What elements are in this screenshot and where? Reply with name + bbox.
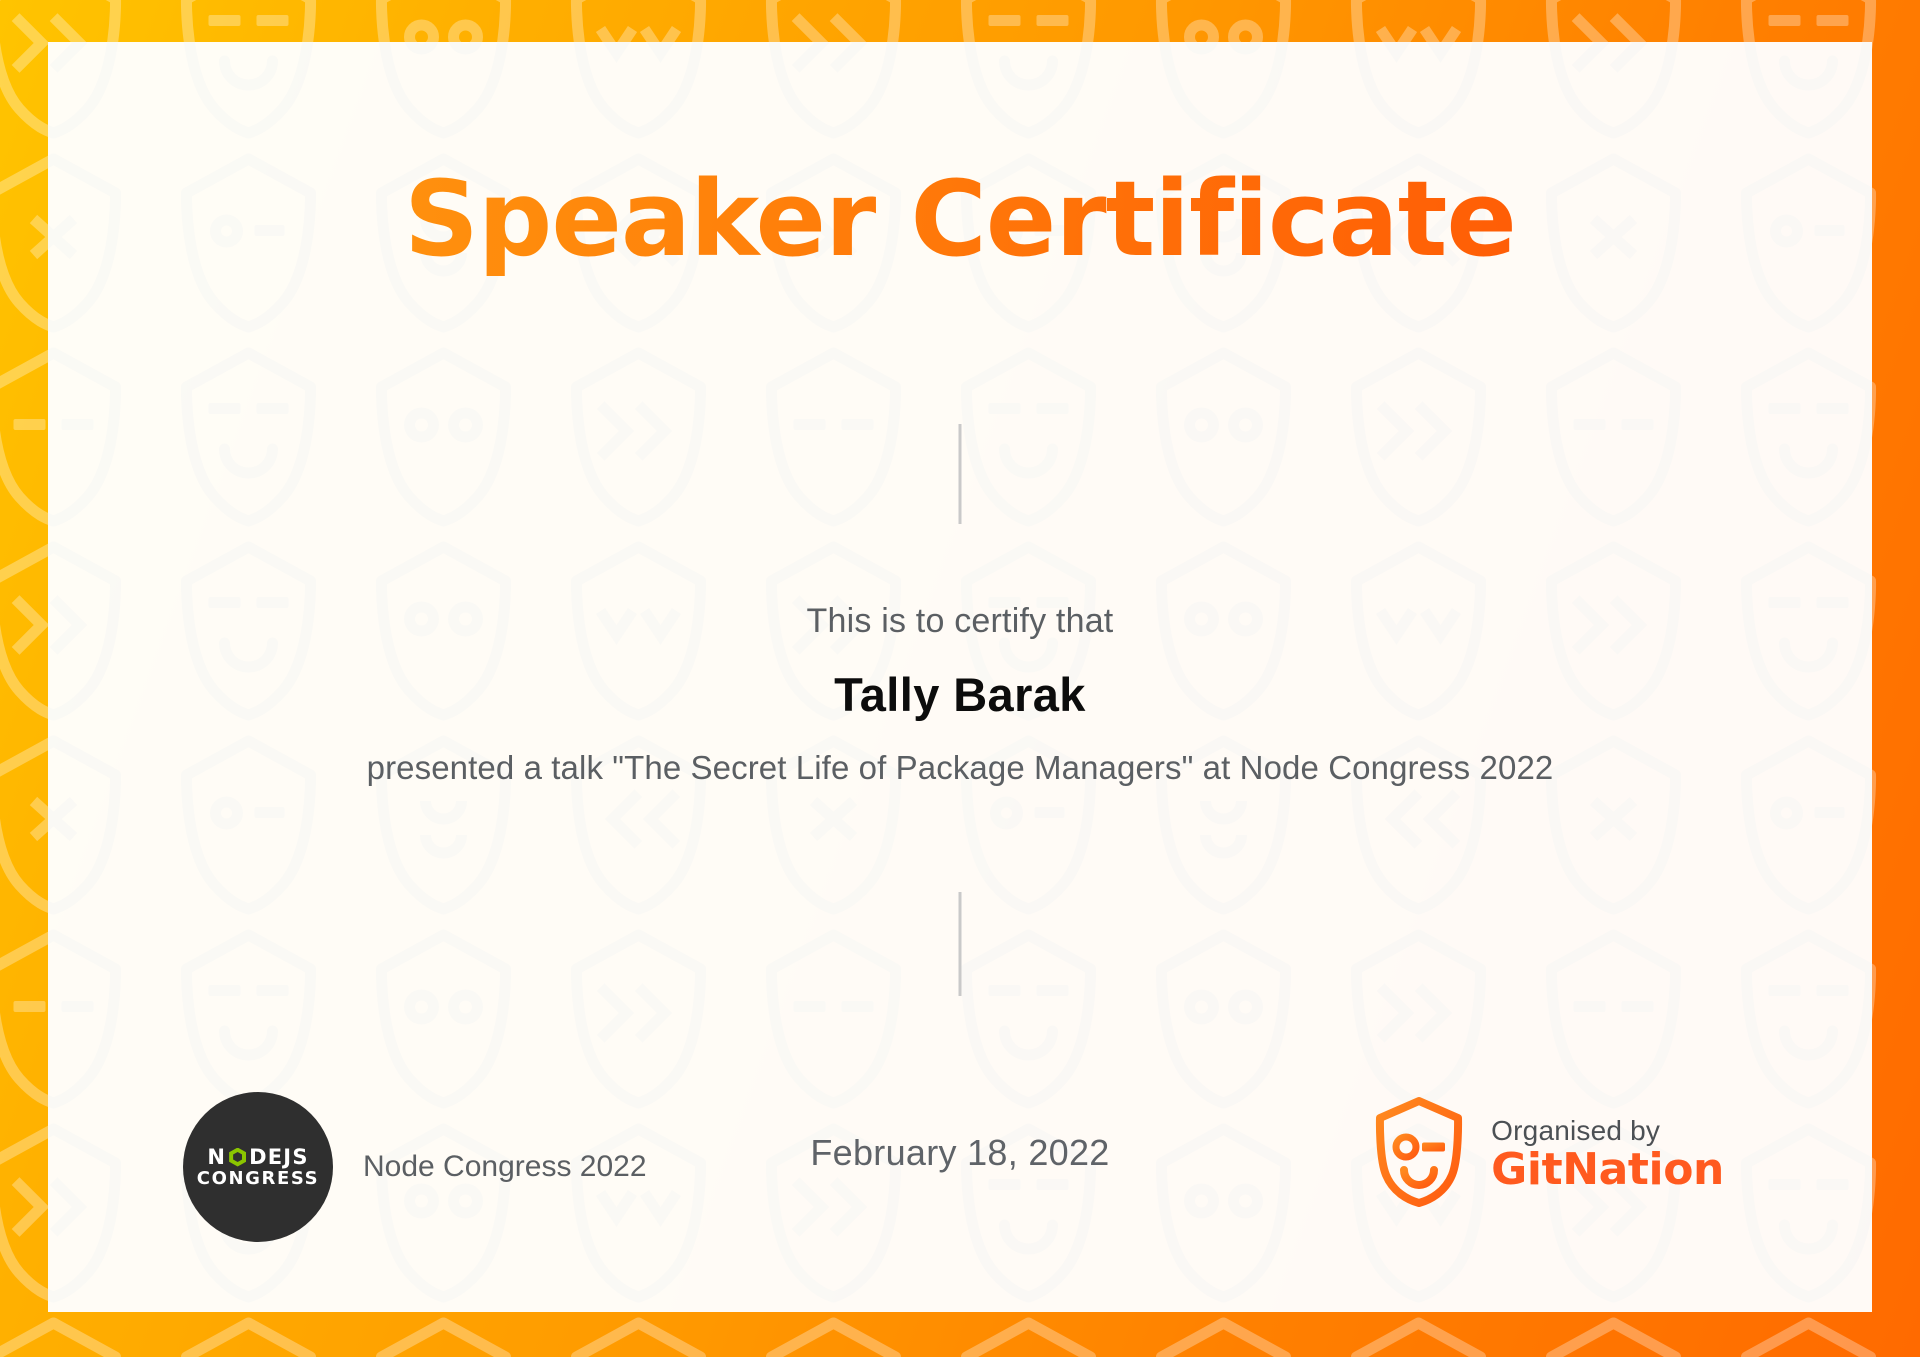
divider-bottom — [959, 892, 962, 996]
gitnation-shield-face-icon — [1373, 1096, 1465, 1213]
page-title: Speaker Certificate — [48, 162, 1872, 276]
organiser-block: Organised by GitNation — [1373, 1096, 1724, 1213]
certificate-footer: N DEJS CONGRESS Node Congress 2022 Febru… — [48, 1080, 1872, 1240]
recipient-name: Tally Barak — [48, 667, 1872, 722]
certify-line: This is to certify that — [48, 602, 1872, 641]
divider-top — [959, 424, 962, 524]
certificate-card: Speaker Certificate This is to certify t… — [48, 42, 1872, 1312]
gitnation-wordmark: GitNation — [1491, 1147, 1724, 1193]
certificate-page: Speaker Certificate This is to certify t… — [0, 0, 1920, 1357]
organiser-text: Organised by GitNation — [1491, 1116, 1724, 1194]
talk-description: presented a talk "The Secret Life of Pac… — [48, 749, 1872, 787]
organised-by-label: Organised by — [1491, 1116, 1724, 1145]
